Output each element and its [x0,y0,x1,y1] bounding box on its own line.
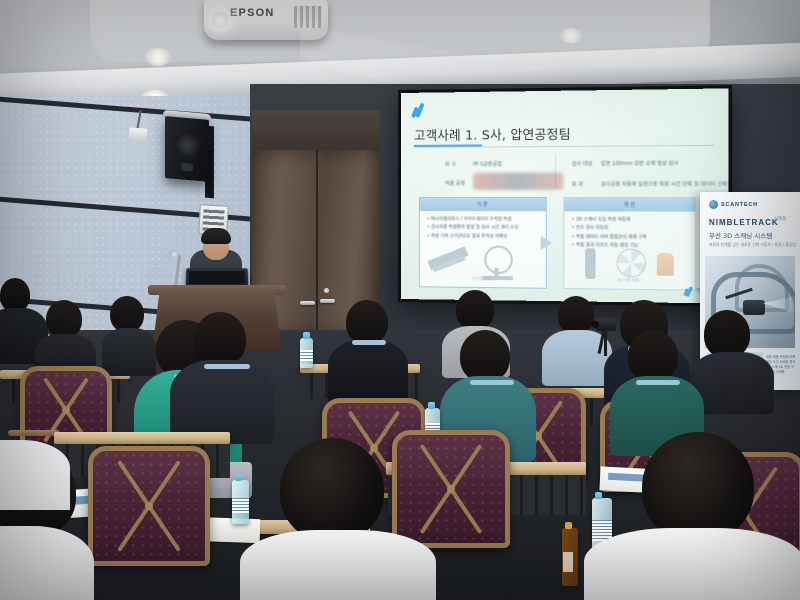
projection-screen: 고객사례 1. S사, 압연공정팀 회 사 ㈜ S강판공업 적용 공정 검사 대… [401,88,729,303]
tripod-leg-icon [604,330,607,356]
banner-subtitle: 무선 3D 스캐닝 시스템 [709,230,772,240]
chair-frame-knot [62,406,70,414]
door-transom [252,110,380,152]
attendee-head [46,300,82,338]
slide-panel-header-label: 기 존 [477,201,488,208]
attendee-head [280,438,384,542]
attendee-head [456,290,494,330]
slide-panel-header-label: 개 선 [624,201,635,208]
banner-brand: SCANTECH [709,200,758,209]
chair-frame-knot [370,444,378,452]
slide-figure-before: 수작업 측정 [426,243,538,282]
water-bottle[interactable] [232,480,249,524]
bottle-label [232,498,249,514]
door-handle-icon[interactable] [300,301,315,305]
attendee-head [704,310,750,358]
slide-figure-after: 3D스캔 측정 [571,244,687,284]
recording-camera-on-tripod[interactable] [596,318,616,331]
bottle-label [300,350,313,361]
slide-panel-header: 기 존 [420,198,546,211]
height-gauge-icon [484,246,513,275]
water-bottle[interactable] [300,338,313,368]
chair-frame-knot [447,485,455,493]
banquet-chair[interactable] [392,430,510,548]
slide-title: 고객사례 1. S사, 압연공정팀 [414,123,571,144]
speaker-cone-icon [174,131,200,159]
sample-part-icon [657,253,674,276]
projector-lens-icon [212,12,228,28]
paper-print-mark [608,472,647,481]
bottle-cap-icon [565,522,572,529]
attendee-shoulder [0,440,70,510]
slide-panel-before: 기 존 • 버니어캘리퍼스 / 하이트게이지 수작업 측정 • 검사자별 측정편… [419,197,547,289]
slide-customer-logo [473,172,563,189]
laptop-screen [189,271,245,284]
seminar-table [54,432,230,444]
slide-meta-label: 검사 대상 [572,160,593,167]
slide-meta-value: 압연 100mm 강판 소재 형상 검사 [601,160,678,168]
bottle-cap-icon [595,492,602,499]
attendee-lanyard [636,380,680,385]
bottle-cap-icon [428,402,435,409]
banquet-chair[interactable] [88,446,210,566]
slide-meta-label: 회 사 [445,161,456,168]
attendee-body [584,528,800,600]
slide-meta-value: ㈜ S강판공업 [473,161,502,168]
beverage-bottle[interactable] [562,528,578,586]
banner-product-name: NIMBLETRACK [709,218,779,227]
attendee-head [110,296,144,332]
attendee-body [240,530,436,600]
slide-bullet: • 측정 기록 수기관리로 결과 추적성 미확보 [427,233,537,242]
3d-scanner-icon [743,300,765,315]
attendee-lanyard [470,380,514,385]
camera-lens-icon [592,321,599,328]
attendee-head [0,278,30,312]
footer-mark-icon [684,286,693,297]
projector-vent-icon [294,6,322,28]
wall-junction-box [129,127,148,142]
alignment-target-icon [617,249,647,278]
door-split-line [316,150,318,335]
slide-meta-value: 검사공정 자동화 실현으로 측정 시간 단축 및 데이터 신뢰성 확보 [601,180,729,187]
scanner-probe-icon [585,248,595,279]
slide-panel-after: 개 선 • 3D 스캐너 도입 측정 자동화 • 전수 검사 자동화 • 측정 … [563,197,696,291]
attendee-head [460,330,510,382]
scantech-logo-icon [709,200,718,209]
attendee-body [328,340,408,404]
chair-frame-knot [145,502,153,510]
banner-brand-label: SCANTECH [721,202,758,208]
attendee-head [194,312,246,366]
slide-figure-caption: 3D스캔 측정 [617,277,639,283]
ceiling-projector[interactable]: EPSON [204,0,328,40]
wall-speaker-icon [165,116,209,182]
door-handle-icon[interactable] [320,299,335,303]
downlight-icon [560,28,582,43]
bottle-label [563,552,573,572]
attendee-head [628,330,678,382]
projector-brand-label: EPSON [230,7,275,19]
attendee-head [346,300,388,344]
chair-arm [8,430,60,436]
slide-panel-header: 개 선 [564,198,695,212]
attendee-lanyard [204,364,250,369]
slide-figure-caption: 수작업 측정 [471,276,491,282]
attendee-lanyard [352,340,386,345]
presenter-hair [201,228,231,244]
seminar-room-photo: EPSON 고객사례 1. S사, 압연공정팀 회 [0,0,800,600]
door-lock-icon[interactable] [324,288,329,293]
slide-brand-logo-icon [412,103,426,119]
bottle-cap-icon [235,474,242,481]
microphone-head-icon [170,250,179,259]
attendee-head [558,296,594,334]
slide-panel-bullets: • 버니어캘리퍼스 / 하이트게이지 수작업 측정 • 검사자별 측정편차 발생… [427,216,537,242]
slide-meta-label: 적용 공정 [445,180,465,187]
attendee-head [642,432,754,542]
banner-description: 측정의 한계를 넘는 새로운 선택 자동차 / 항공 / 중공업 [709,242,796,248]
slide-meta-label: 효 과 [572,181,583,188]
speaker-tweeter-icon [181,162,193,171]
improvement-arrow-icon [541,236,552,250]
banner-badge: 신제품 [774,216,786,222]
bottle-cap-icon [303,332,310,339]
downlight-icon [145,48,171,66]
